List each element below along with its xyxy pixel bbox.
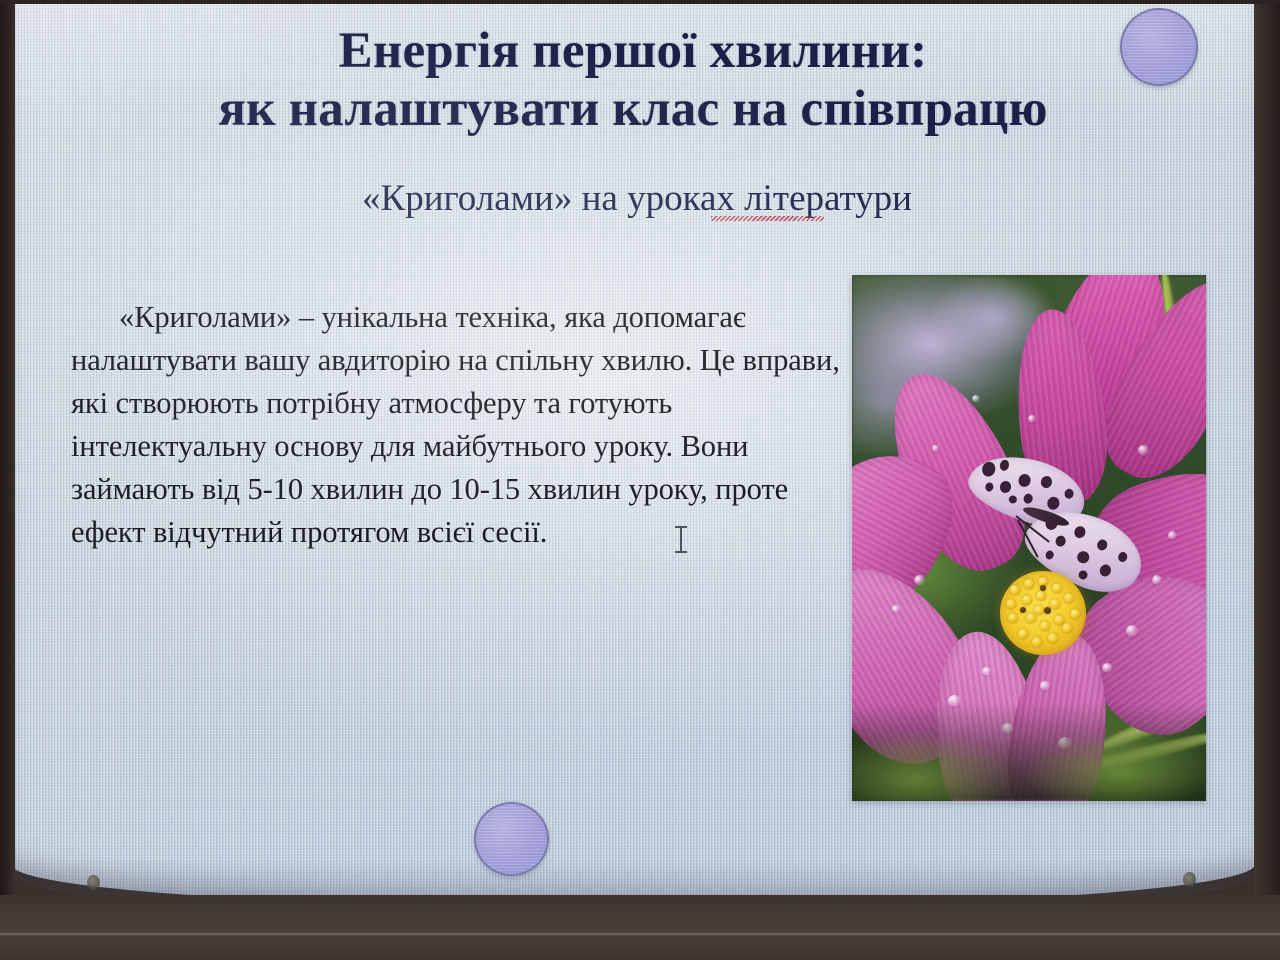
- slide-subtitle-inner: «Криголами» на уроках літератури: [354, 176, 912, 222]
- room-wall-bottom: [0, 895, 1280, 960]
- pink-cosmos-flower-with-spotted-moth-photo: [852, 275, 1206, 801]
- water-droplet: [1168, 531, 1177, 540]
- slide-title-line-2: як налаштувати клас на співпрацю: [11, 80, 1255, 138]
- lavender-circle-bottom-center-icon: [474, 802, 549, 876]
- water-droplet: [1126, 625, 1138, 637]
- slide-subtitle-text: «Криголами» на уроках літератури: [362, 178, 912, 219]
- water-droplet: [914, 575, 925, 586]
- presentation-slide: Енергія першої хвилини: як налаштувати к…: [11, 0, 1255, 905]
- slide-subtitle: «Криголами» на уроках літератури: [11, 176, 1255, 222]
- water-droplet: [1102, 663, 1113, 673]
- photo-foreground-foliage: [852, 703, 1206, 801]
- water-droplet: [1152, 575, 1162, 585]
- room-photograph: Енергія першої хвилини: як налаштувати к…: [0, 0, 1280, 960]
- flower-yellow-center: [1000, 571, 1086, 655]
- small-dot-bottom-right-icon: [1183, 872, 1196, 887]
- water-droplet: [1138, 445, 1149, 456]
- room-wall-top: [0, 0, 1280, 4]
- water-droplet: [892, 605, 900, 613]
- room-wall-right: [1254, 0, 1280, 960]
- slide-title-line-1: Енергія першої хвилини:: [11, 22, 1255, 80]
- water-droplet: [1040, 681, 1050, 691]
- room-wall-left: [0, 0, 15, 960]
- water-droplet: [932, 445, 939, 452]
- water-droplet: [972, 395, 980, 403]
- slide-body-paragraph: «Криголами» – унікальна техніка, яка доп…: [71, 296, 861, 554]
- water-droplet: [982, 667, 991, 676]
- slide-title: Енергія першої хвилини: як налаштувати к…: [11, 22, 1255, 138]
- spellcheck-squiggle-underline: [711, 216, 824, 221]
- small-dot-bottom-left-icon: [87, 875, 100, 890]
- water-droplet: [1028, 415, 1036, 423]
